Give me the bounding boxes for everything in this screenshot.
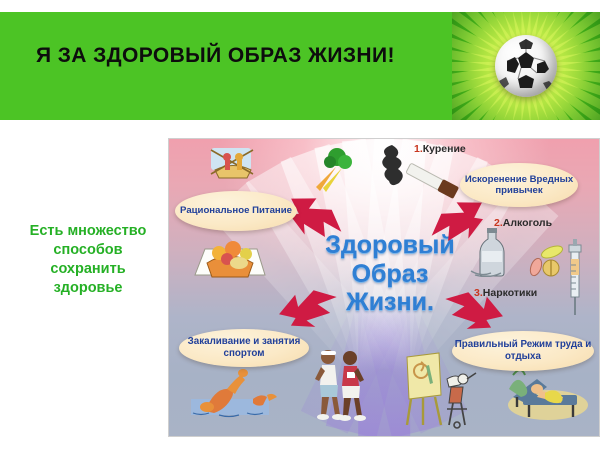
harm-number: 3.	[474, 287, 483, 299]
soccer-ball-panel	[452, 12, 600, 120]
runners-icon	[312, 345, 368, 425]
soccer-ball-icon	[495, 35, 557, 97]
oval-text: Закаливание и занятия спортом	[179, 336, 309, 360]
harm-item-drugs: 3.Наркотики	[474, 287, 537, 299]
oval-text: Рациональное Питание	[180, 205, 292, 217]
harm-item-alcohol: 2.Алкоголь	[494, 217, 552, 229]
harm-item-smoking: 1.Курение	[414, 143, 466, 155]
label-correct-work-rest-regime[interactable]: Правильный Режим труда и отдыха	[452, 331, 594, 371]
broccoli-carrot-icon	[312, 145, 354, 193]
left-green-note: Есть множество способов сохранить здоров…	[18, 222, 158, 299]
oval-text: Искоренение Вредных привычек	[460, 174, 578, 197]
harm-label: Курение	[423, 143, 466, 155]
slide-canvas: Я ЗА ЗДОРОВЫЙ ОБРАЗ ЖИЗНИ! Есть мн	[0, 0, 600, 450]
label-eradicate-bad-habits[interactable]: Искоренение Вредных привычек	[460, 163, 578, 207]
oval-text: Правильный Режим труда и отдыха	[452, 339, 594, 363]
page-title: Я ЗА ЗДОРОВЫЙ ОБРАЗ ЖИЗНИ!	[36, 44, 456, 68]
barbecue-grill-icon	[205, 144, 261, 184]
pills-icon	[529, 245, 565, 279]
harm-label: Наркотики	[483, 287, 537, 299]
label-hardening-and-sport[interactable]: Закаливание и занятия спортом	[179, 329, 309, 367]
harm-number: 2.	[494, 217, 503, 229]
swimmer-icon	[191, 367, 301, 421]
fruit-basket-icon	[191, 235, 271, 287]
syringe-icon	[567, 239, 583, 317]
alcohol-bottle-icon	[469, 227, 515, 277]
harm-number: 1.	[414, 143, 423, 155]
sun-lounger-icon	[507, 363, 589, 421]
cigarette-icon	[401, 163, 463, 199]
harm-label: Алкоголь	[503, 217, 552, 229]
healthy-lifestyle-poster: Здоровый Образ Жизни.	[168, 138, 600, 437]
label-rational-nutrition[interactable]: Рациональное Питание	[175, 191, 297, 231]
